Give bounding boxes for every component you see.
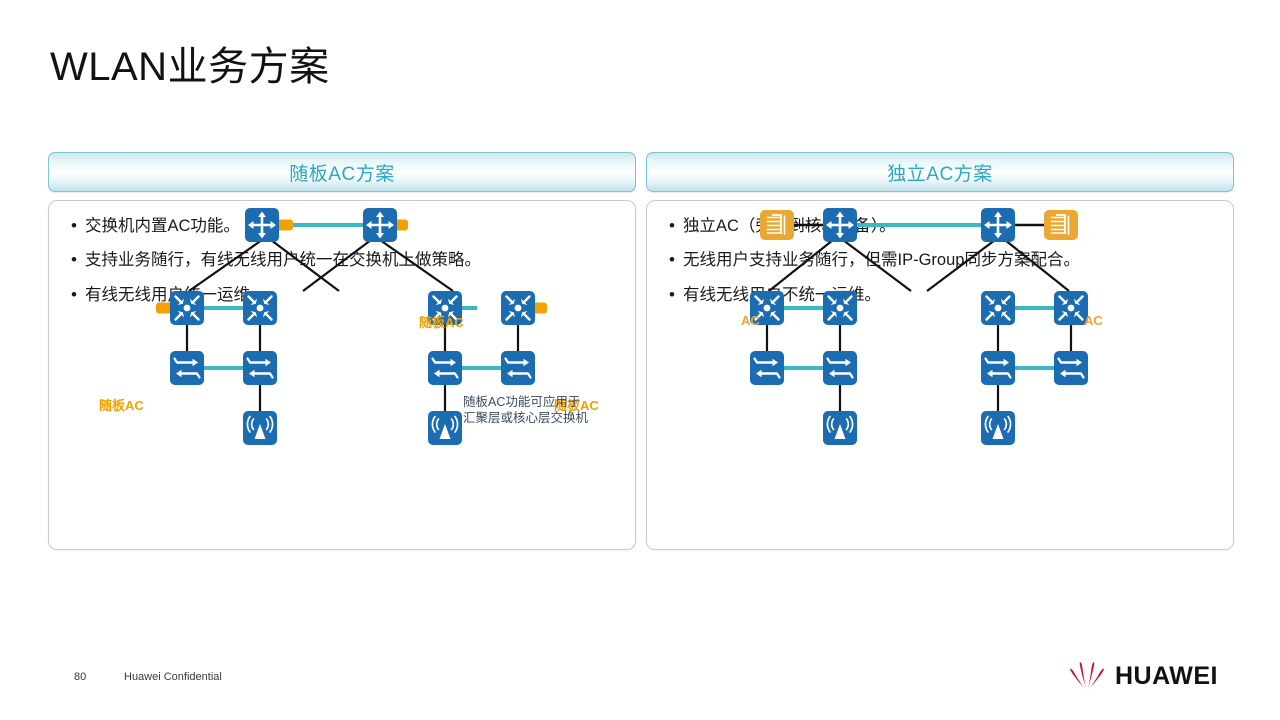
core-router-icon — [363, 208, 397, 242]
aggregation-switch-icon — [1054, 291, 1088, 325]
tag-label-suibanac-agg-left: 随板AC — [99, 395, 144, 414]
footer-page-number: 80 — [74, 671, 86, 683]
access-switch-icon — [750, 351, 784, 385]
huawei-flower-icon — [1068, 660, 1106, 692]
core-router-icon — [823, 208, 857, 242]
access-switch-icon — [243, 351, 277, 385]
huawei-logo: HUAWEI — [1068, 658, 1228, 694]
wireless-ap-icon — [823, 411, 857, 445]
tag-label-suibanac-core: 随板AC — [419, 312, 464, 331]
tag-label-ac-right: AC — [1084, 313, 1103, 328]
core-router-icon — [981, 208, 1015, 242]
aggregation-switch-icon — [501, 291, 535, 325]
wireless-ap-icon — [981, 411, 1015, 445]
network-topology-right — [647, 201, 1233, 549]
network-topology-left — [49, 201, 635, 549]
slide-root: WLAN业务方案 随板AC方案 • 交换机内置AC功能。 • 支持业务随行，有线… — [0, 0, 1280, 720]
panel-header-left: 随板AC方案 — [48, 152, 636, 192]
ac-blade-stubs-left — [156, 220, 547, 314]
page-title: WLAN业务方案 — [50, 34, 330, 92]
panel-sui-ban-ac: 随板AC方案 • 交换机内置AC功能。 • 支持业务随行，有线无线用户统一在交换… — [48, 152, 636, 550]
ac-controller-icon — [760, 210, 794, 240]
panel-header-left-title: 随板AC方案 — [289, 159, 394, 186]
panel-body-right: • 独立AC（旁挂到核心设备）。 • 无线用户支持业务随行，但需IP-Group… — [646, 200, 1234, 550]
core-router-icon — [245, 208, 279, 242]
panel-du-li-ac: 独立AC方案 • 独立AC（旁挂到核心设备）。 • 无线用户支持业务随行，但需I… — [646, 152, 1234, 550]
panel-body-left: • 交换机内置AC功能。 • 支持业务随行，有线无线用户统一在交换机上做策略。 … — [48, 200, 636, 550]
access-switch-icon — [501, 351, 535, 385]
access-switch-icon — [1054, 351, 1088, 385]
huawei-wordmark: HUAWEI — [1115, 664, 1218, 689]
aggregation-switch-icon — [170, 291, 204, 325]
aggregation-switch-icon — [981, 291, 1015, 325]
access-switch-icon — [170, 351, 204, 385]
topology-links-left — [187, 225, 518, 411]
wireless-ap-icon — [243, 411, 277, 445]
access-switch-icon — [428, 351, 462, 385]
access-switch-icon — [823, 351, 857, 385]
panel-header-right: 独立AC方案 — [646, 152, 1234, 192]
footer-confidential-label: Huawei Confidential — [124, 671, 222, 683]
tag-label-ac-left: AC — [741, 313, 760, 328]
panel-header-right-title: 独立AC方案 — [887, 159, 992, 186]
aggregation-switch-icon — [823, 291, 857, 325]
access-switch-icon — [981, 351, 1015, 385]
ac-controller-icon — [1044, 210, 1078, 240]
diagram-note-left: 随板AC功能可应用于 汇聚层或核心层交换机 — [463, 394, 588, 427]
topology-nodes-right — [750, 208, 1088, 445]
aggregation-switch-icon — [243, 291, 277, 325]
wireless-ap-icon — [428, 411, 462, 445]
topology-links-right — [767, 225, 1071, 411]
